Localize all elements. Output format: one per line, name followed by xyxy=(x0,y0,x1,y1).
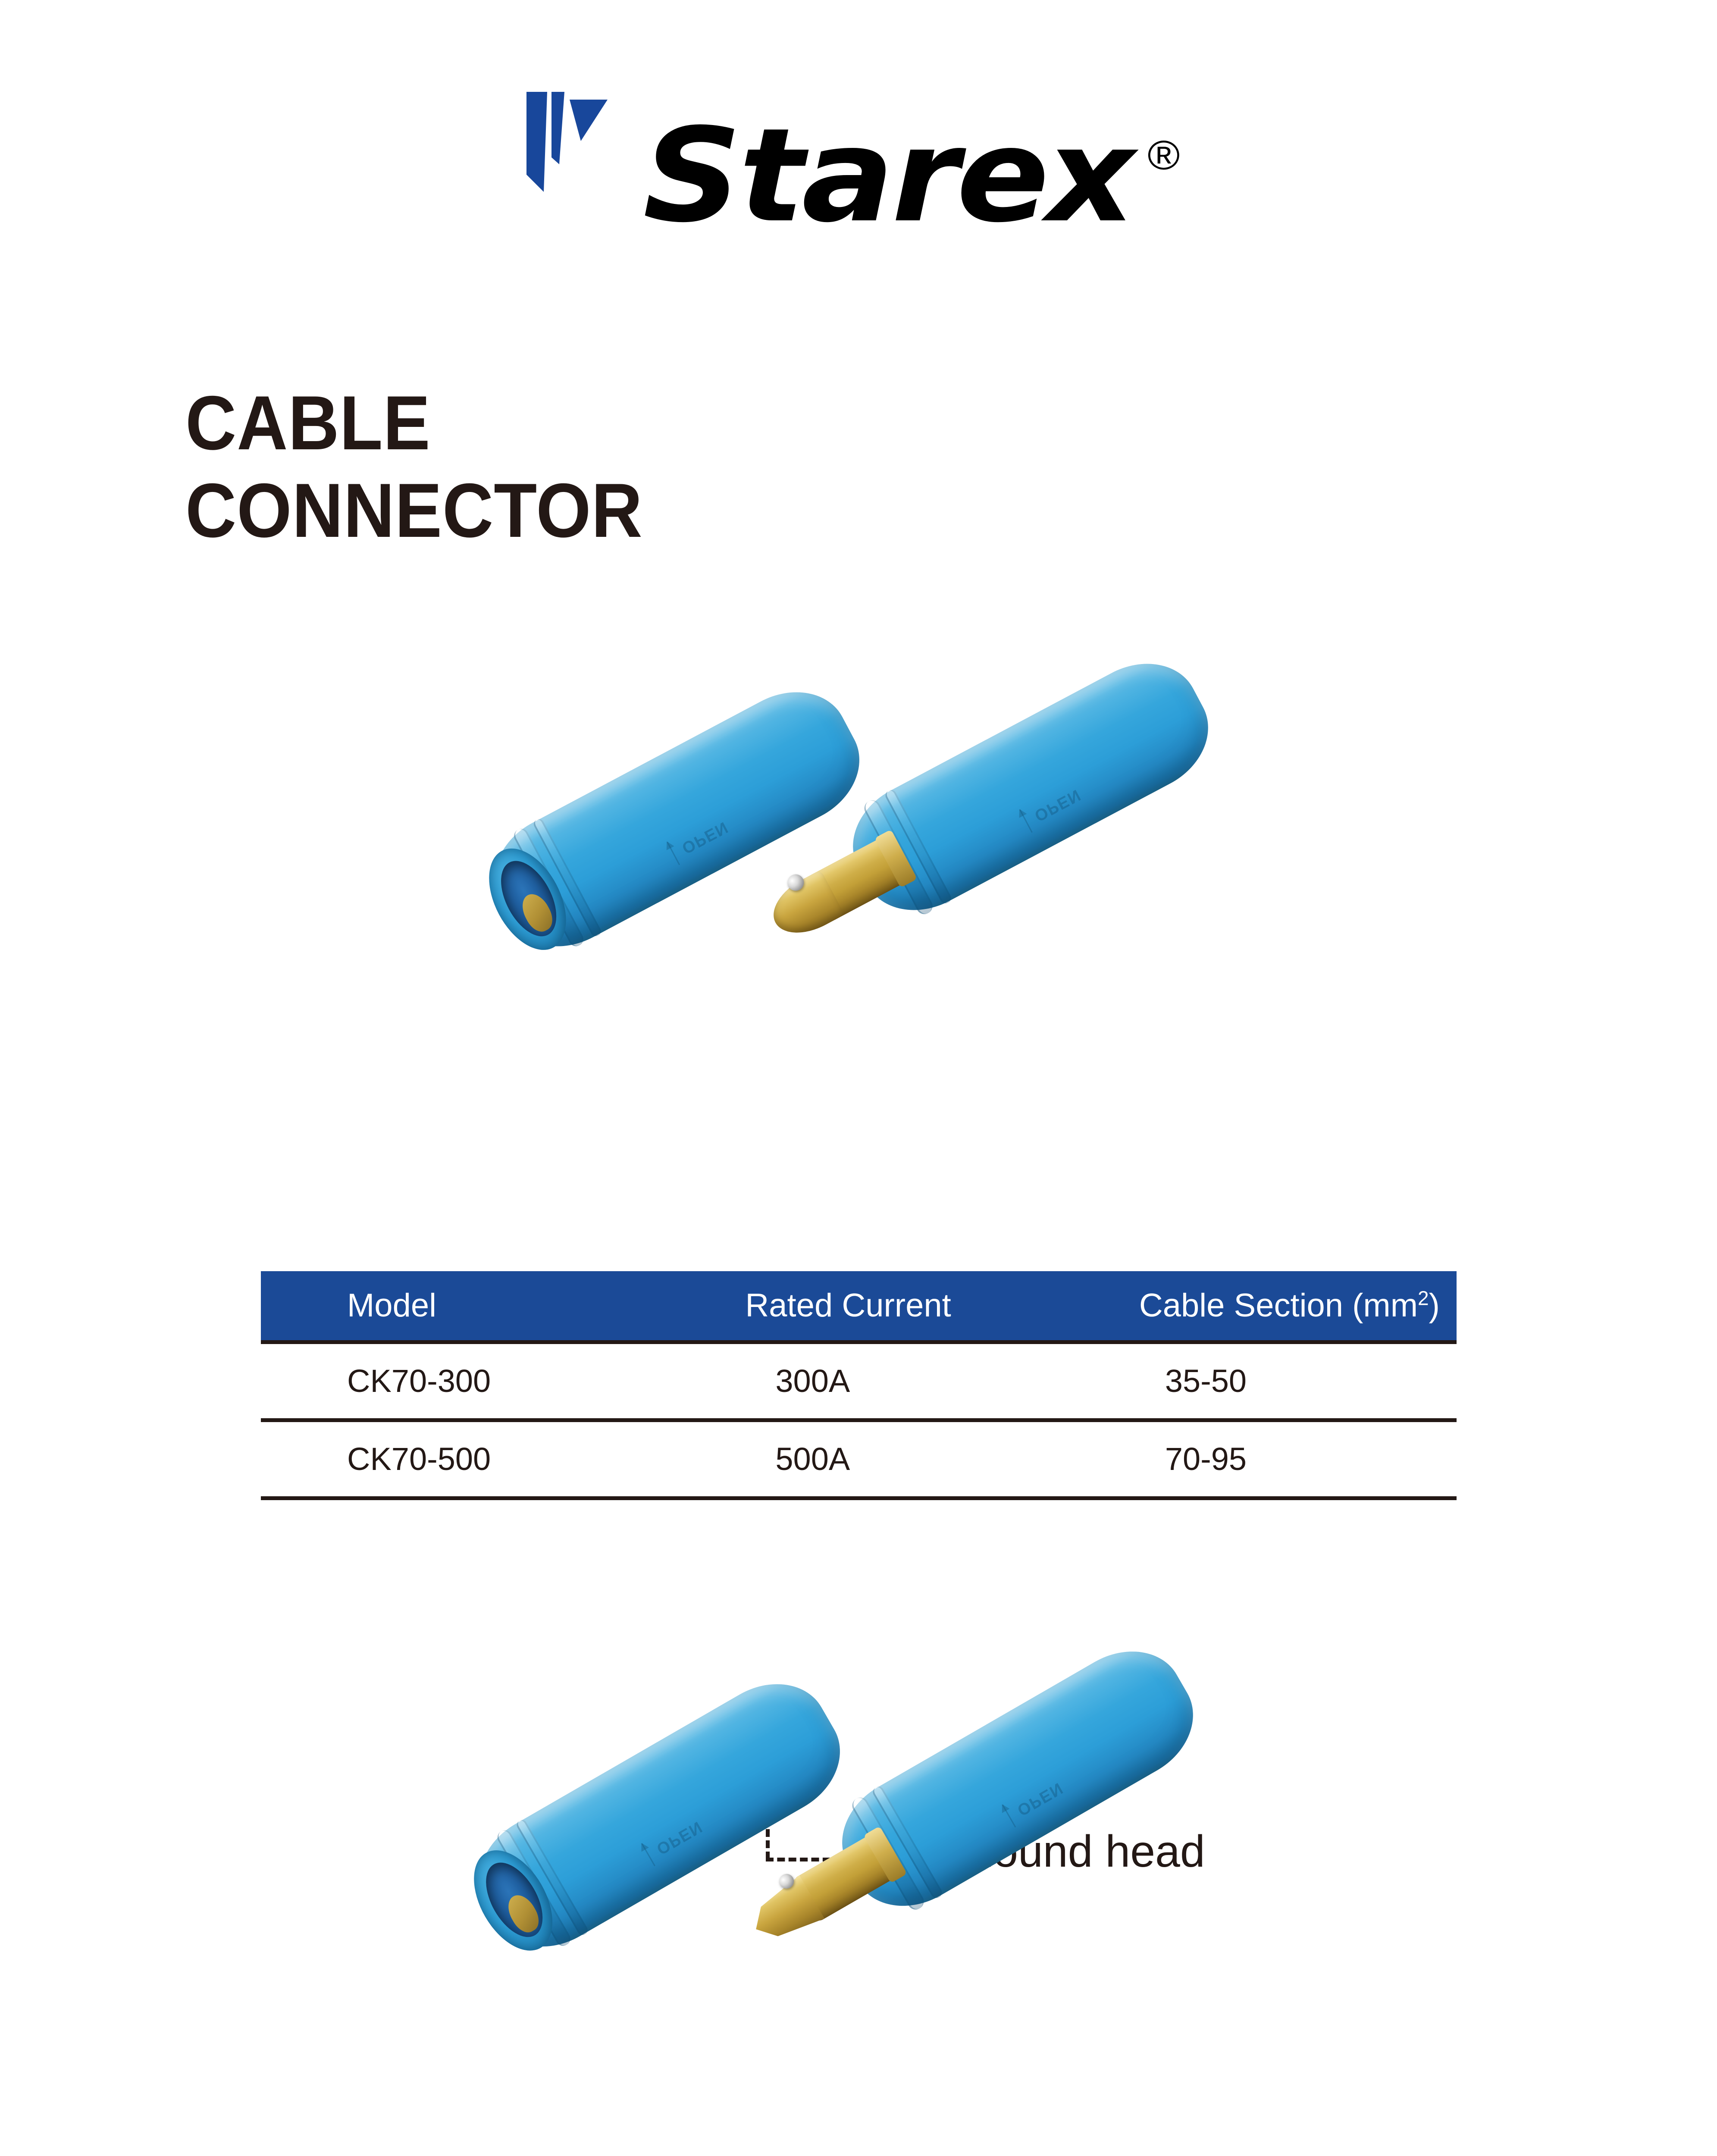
registered-trademark-icon: ® xyxy=(1147,135,1177,176)
column-header-cable-section-text: Cable Section (mm xyxy=(1139,1287,1418,1324)
spec-table-round-head: Model Rated Current Cable Section (mm2) … xyxy=(261,1271,1457,1500)
connector-plug-cone: OPEN xyxy=(822,1630,1213,1927)
brand-wordmark: Starex® xyxy=(643,125,1132,226)
table-row: CK70-500 500A 70-95 xyxy=(261,1420,1457,1498)
cell-rated-current: 300A xyxy=(659,1342,1057,1420)
column-header-cable-section: Cable Section (mm2) xyxy=(1057,1271,1457,1342)
product-figure-cone-head: OPEN OPEN Cone head xyxy=(0,1651,1717,2156)
column-header-model: Model xyxy=(261,1271,659,1342)
table-row: CK70-300 300A 35-50 xyxy=(261,1342,1457,1420)
product-photo-round-head: OPEN OPEN xyxy=(440,655,1354,1164)
starex-flag-logo-icon xyxy=(518,84,660,213)
brand-name-text: Starex xyxy=(643,100,1132,251)
connector-plug-round: OPEN xyxy=(833,642,1227,931)
cell-cable-section: 70-95 xyxy=(1057,1420,1457,1498)
product-figure-round-head: OPEN OPEN Round head xyxy=(0,655,1717,1229)
column-header-cable-section-exponent: 2 xyxy=(1418,1287,1429,1310)
cell-cable-section: 35-50 xyxy=(1057,1342,1457,1420)
brand-header: Starex® xyxy=(0,65,1717,246)
page-title: CABLE CONNECTOR xyxy=(185,379,643,555)
brand-lockup: Starex® xyxy=(518,84,1105,226)
column-header-rated-current: Rated Current xyxy=(659,1271,1057,1342)
cell-model: CK70-300 xyxy=(261,1342,659,1420)
cell-rated-current: 500A xyxy=(659,1420,1057,1498)
product-photo-cone-head: OPEN OPEN xyxy=(440,1651,1354,2156)
column-header-cable-section-tail: ) xyxy=(1429,1287,1440,1324)
cell-model: CK70-500 xyxy=(261,1420,659,1498)
table-header-row: Model Rated Current Cable Section (mm2) xyxy=(261,1271,1457,1342)
